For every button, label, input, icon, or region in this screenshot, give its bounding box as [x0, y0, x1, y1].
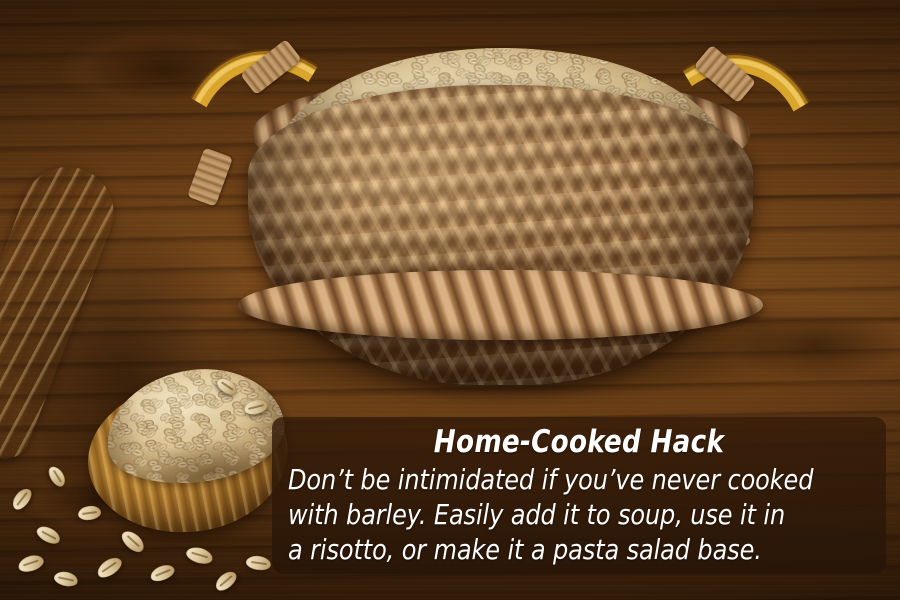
wicker-basket [190, 30, 810, 395]
basket-twisted-rim [238, 270, 763, 340]
overlay-body: Don’t be intimidated if you’ve never coo… [288, 463, 870, 568]
overlay-body-line-2: with barley. Easily add it to soup, use … [288, 498, 853, 533]
overlay-body-line-1: Don’t be intimidated if you’ve never coo… [288, 463, 853, 498]
text-overlay-card: Home-Cooked Hack Don’t be intimidated if… [272, 417, 886, 574]
infographic-image: Home-Cooked Hack Don’t be intimidated if… [0, 0, 900, 600]
basket-body-shading [248, 85, 753, 385]
overlay-body-line-3: a risotto, or make it a pasta salad base… [288, 533, 853, 568]
overlay-title: Home-Cooked Hack [305, 423, 852, 461]
basket-body [248, 85, 753, 385]
